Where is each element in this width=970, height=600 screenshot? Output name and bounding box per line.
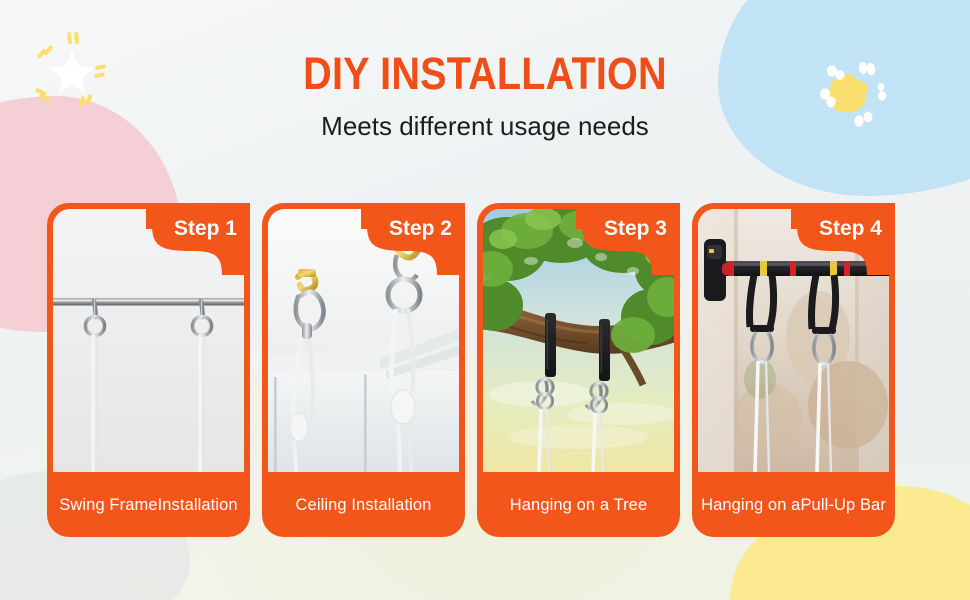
step-card-4-caption-line-1: Hanging on a <box>701 495 800 516</box>
step-card-3-caption: Hanging on a Tree <box>477 474 680 537</box>
step-card-4-badge-label: Step 4 <box>819 217 882 241</box>
step-card-3[interactable]: Step 3 Hanging on a Tree <box>477 203 680 537</box>
step-card-2-caption: Ceiling Installation <box>262 474 465 537</box>
step-card-3-badge-label: Step 3 <box>604 217 667 241</box>
step-card-4-caption: Hanging on a Pull-Up Bar <box>692 474 895 537</box>
step-card-4[interactable]: Step 4 Hanging on a Pull-Up Bar <box>692 203 895 537</box>
step-card-row: Step 1 Swing Frame Installation <box>47 203 923 543</box>
page-subtitle: Meets different usage needs <box>0 98 970 140</box>
step-card-2[interactable]: Step 2 Ceiling Installation <box>262 203 465 537</box>
step-card-1-caption-line-1: Swing Frame <box>59 495 157 516</box>
page-title: DIY INSTALLATION <box>58 0 912 98</box>
step-card-2-badge-label: Step 2 <box>389 217 452 241</box>
step-card-4-caption-line-2: Pull-Up Bar <box>800 495 885 516</box>
step-card-1-badge-label: Step 1 <box>174 217 237 241</box>
step-card-4-badge: Step 4 <box>771 203 895 275</box>
step-card-3-badge: Step 3 <box>556 203 680 275</box>
step-card-1-badge: Step 1 <box>126 203 250 275</box>
step-card-2-badge: Step 2 <box>341 203 465 275</box>
step-card-1[interactable]: Step 1 Swing Frame Installation <box>47 203 250 537</box>
step-card-1-caption: Swing Frame Installation <box>47 474 250 537</box>
header: DIY INSTALLATION Meets different usage n… <box>0 0 970 140</box>
infographic-canvas: DIY INSTALLATION Meets different usage n… <box>0 0 970 600</box>
step-card-1-caption-line-2: Installation <box>158 495 238 516</box>
